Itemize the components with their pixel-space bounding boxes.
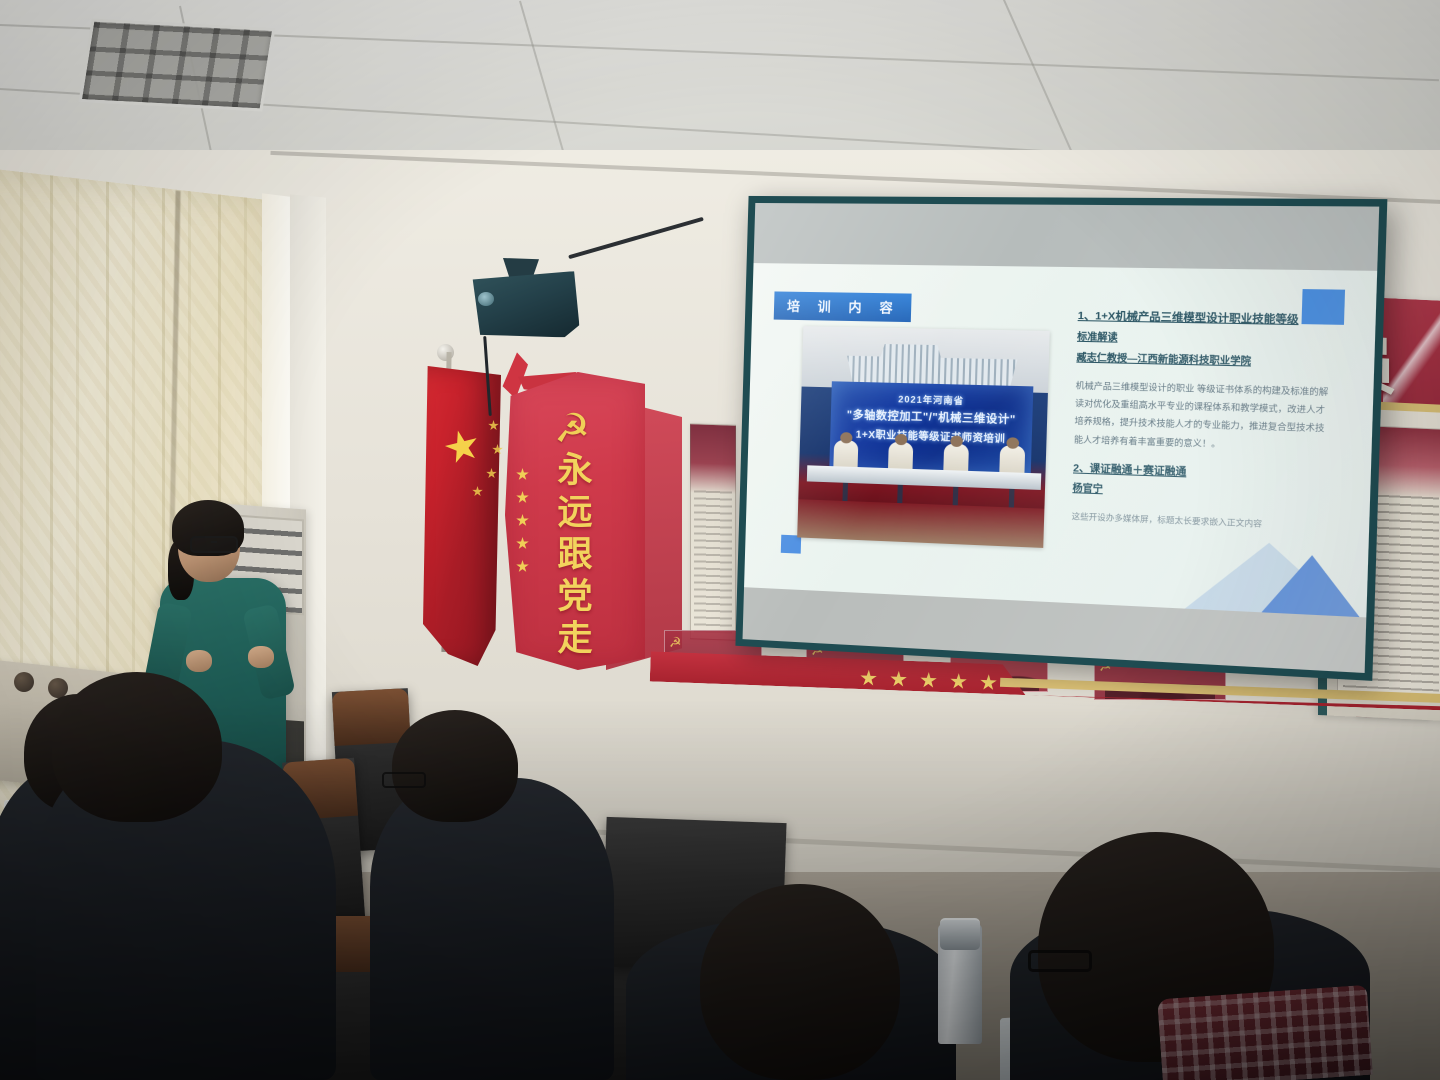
attendee-head	[700, 884, 900, 1080]
projector-lens-icon	[478, 292, 494, 306]
attendee-glasses	[382, 772, 426, 788]
banner-star	[516, 468, 529, 481]
slide-heading-1: 1、1+X机械产品三维模型设计职业技能等级	[1077, 307, 1330, 332]
poster-text-lines	[694, 488, 732, 633]
attendee-plaid-shirt	[1157, 985, 1373, 1080]
wall-poster-narrow	[690, 423, 736, 641]
banner-slogan: 永 远 跟 党 走	[552, 452, 598, 658]
banner-star	[516, 537, 529, 550]
banner-star	[516, 560, 529, 573]
attendee-center	[370, 778, 614, 1080]
led-line-2: "多轴数控加工"/"机械三维设计"	[831, 405, 1033, 427]
hammer-sickle-icon: ☭	[669, 635, 682, 649]
attendee-head	[392, 710, 518, 822]
slide-heading-1b: 标准解读	[1077, 329, 1330, 353]
slide-inner-photo: 2021年河南省 "多轴数控加工"/"机械三维设计" 1+X职业技能等级证书师资…	[797, 326, 1050, 548]
slide-presenter-line: 臧志仁教授—江西新能源科技职业学院	[1076, 349, 1329, 373]
presentation-room-photo: ☭ 永 远 跟 党 走 员 ☭ ☭ ☭	[0, 0, 1440, 1080]
banner-char: 永	[557, 452, 592, 490]
slide-decor-square-bottom-left	[781, 535, 801, 554]
band-star	[950, 673, 968, 691]
photo-carpet	[797, 499, 1044, 548]
banner-star	[516, 514, 529, 527]
presenter-hand-left	[186, 650, 212, 672]
projection-screen: 培 训 内 容 2021年河南省 "多轴数控加工"/"机械三维设计" 1+X职业…	[743, 203, 1380, 673]
band-star	[890, 671, 908, 689]
led-line-3: 1+X职业技能等级证书师资培训	[830, 425, 1032, 447]
slide-body-paragraph: 机械产品三维模型设计的职业 等级证书体系的构建及标准的解读对优化及重组高水平专业…	[1074, 377, 1329, 457]
band-star	[920, 672, 938, 690]
slide-section-badge: 培 训 内 容	[774, 291, 912, 322]
band-star	[860, 669, 878, 687]
chair-headrest	[332, 688, 411, 746]
hammer-sickle-icon: ☭	[548, 408, 596, 450]
projection-screen-frame: 培 训 内 容 2021年河南省 "多轴数控加工"/"机械三维设计" 1+X职业…	[735, 196, 1387, 681]
slide-footnote: 这些开设办多媒体屏，标题太长要求嵌入正文内容	[1071, 510, 1324, 535]
banner-char: 跟	[557, 536, 592, 574]
attendee-head	[52, 672, 222, 822]
banner-star	[516, 491, 529, 504]
banner-star-column	[516, 468, 529, 573]
presenter-hand-right	[248, 646, 274, 668]
banner-char: 走	[557, 620, 592, 658]
presenter-glasses	[190, 536, 238, 553]
screen-top-band	[754, 203, 1380, 271]
banner-char: 党	[557, 578, 592, 616]
slide-text-block: 1、1+X机械产品三维模型设计职业技能等级 标准解读 臧志仁教授—江西新能源科技…	[1071, 307, 1331, 536]
thermos-cap	[940, 918, 980, 950]
ceiling-grid-light	[79, 18, 276, 111]
attendee-glasses	[1028, 950, 1092, 972]
presentation-slide: 培 训 内 容 2021年河南省 "多轴数控加工"/"机械三维设计" 1+X职业…	[744, 263, 1377, 617]
desk-object	[14, 672, 34, 692]
banner-char: 远	[557, 494, 592, 532]
band-star	[980, 674, 998, 692]
